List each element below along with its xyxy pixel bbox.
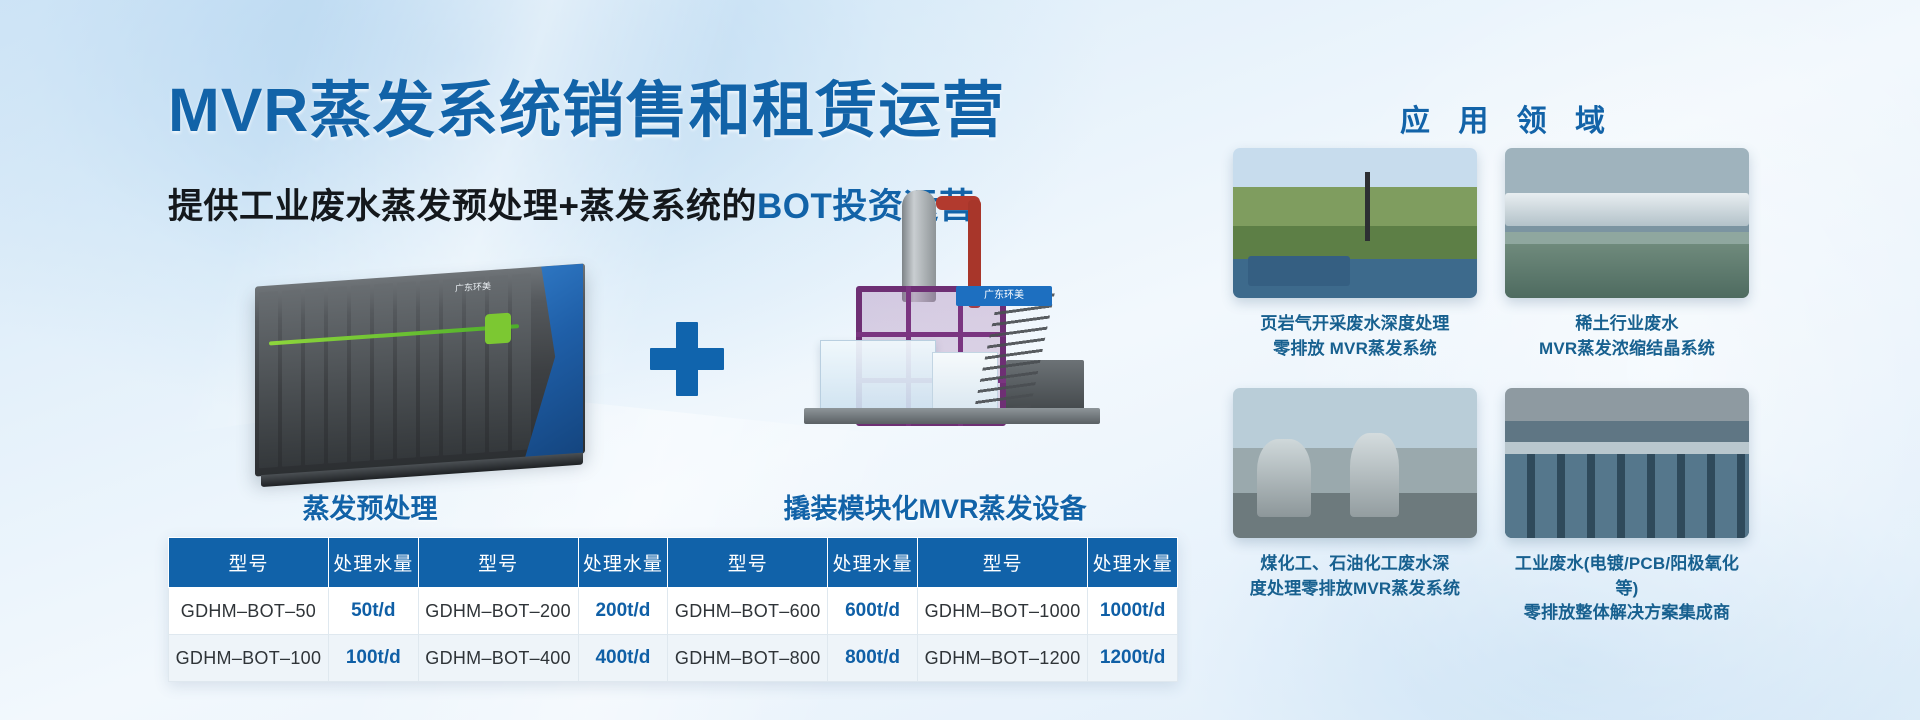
cell-model: GDHM–BOT–100 [169, 635, 329, 682]
cell-capacity: 600t/d [828, 588, 918, 635]
col-header-model-1: 型号 [169, 538, 329, 588]
application-card-rare-earth: 稀土行业废水 MVR蒸发浓缩结晶系统 [1505, 148, 1749, 361]
application-thumbnail-image [1505, 388, 1749, 538]
application-thumbnail-image [1233, 388, 1477, 538]
cell-model: GDHM–BOT–800 [668, 635, 828, 682]
skid-mounted-mvr-evaporator-image: 广东环美 [760, 190, 1120, 465]
application-card-industrial-wastewater: 工业废水(电镀/PCB/阳极氧化等) 零排放整体解决方案集成商 [1505, 388, 1749, 626]
cell-capacity: 100t/d [328, 635, 418, 682]
application-caption-line2: 零排放 MVR蒸发系统 [1233, 337, 1477, 362]
model-capacity-table: 型号 处理水量 型号 处理水量 型号 处理水量 型号 处理水量 GDHM–BOT… [168, 537, 1178, 682]
applications-panel: 应 用 领 域 页岩气开采废水深度处理 零排放 MVR蒸发系统 稀土行业废水 M… [1205, 0, 1920, 720]
promo-banner: MVR蒸发系统销售和租赁运营 提供工业废水蒸发预处理+蒸发系统的BOT投资运营 … [0, 0, 1920, 720]
subheadline-lead: 提供工业废水蒸发预处理+蒸发系统的 [168, 187, 757, 226]
col-header-model-4: 型号 [917, 538, 1087, 588]
application-caption-line1: 工业废水(电镀/PCB/阳极氧化等) [1505, 552, 1749, 601]
application-caption: 工业废水(电镀/PCB/阳极氧化等) 零排放整体解决方案集成商 [1505, 552, 1749, 626]
application-card-shale-gas: 页岩气开采废水深度处理 零排放 MVR蒸发系统 [1233, 148, 1477, 361]
cell-capacity: 800t/d [828, 635, 918, 682]
cell-model: GDHM–BOT–1200 [917, 635, 1087, 682]
application-caption-line1: 稀土行业废水 [1505, 312, 1749, 337]
cell-model: GDHM–BOT–600 [668, 588, 828, 635]
cell-model: GDHM–BOT–1000 [917, 588, 1087, 635]
application-caption: 页岩气开采废水深度处理 零排放 MVR蒸发系统 [1233, 312, 1477, 361]
table-header-row: 型号 处理水量 型号 处理水量 型号 处理水量 型号 处理水量 [169, 538, 1178, 588]
clear-tank-front [820, 340, 936, 410]
col-header-model-3: 型号 [668, 538, 828, 588]
application-card-coal-petrochemical: 煤化工、石油化工废水深 度处理零排放MVR蒸发系统 [1233, 388, 1477, 601]
application-caption-line2: 零排放整体解决方案集成商 [1505, 601, 1749, 626]
table-header: 型号 处理水量 型号 处理水量 型号 处理水量 型号 处理水量 [169, 538, 1178, 588]
application-thumbnail-image [1233, 148, 1477, 298]
application-caption-line1: 页岩气开采废水深度处理 [1233, 312, 1477, 337]
col-header-capacity-3: 处理水量 [828, 538, 918, 588]
cell-model: GDHM–BOT–50 [169, 588, 329, 635]
col-header-capacity-2: 处理水量 [578, 538, 668, 588]
col-header-capacity-4: 处理水量 [1088, 538, 1178, 588]
cell-capacity: 1000t/d [1088, 588, 1178, 635]
container-green-badge [485, 313, 511, 345]
cell-capacity: 50t/d [328, 588, 418, 635]
skid-base-frame [804, 408, 1100, 424]
figure-caption-skid-mvr: 撬装模块化MVR蒸发设备 [784, 487, 1087, 526]
application-caption-line1: 煤化工、石油化工废水深 [1233, 552, 1477, 577]
application-caption-line2: 度处理零排放MVR蒸发系统 [1233, 577, 1477, 602]
cell-model: GDHM–BOT–400 [418, 635, 578, 682]
cell-capacity: 400t/d [578, 635, 668, 682]
headline: MVR蒸发系统销售和租赁运营 [168, 78, 1005, 143]
application-caption: 稀土行业废水 MVR蒸发浓缩结晶系统 [1505, 312, 1749, 361]
cell-capacity: 1200t/d [1088, 635, 1178, 682]
applications-title: 应 用 领 域 [1400, 96, 1615, 140]
col-header-model-2: 型号 [418, 538, 578, 588]
application-caption-line2: MVR蒸发浓缩结晶系统 [1505, 337, 1749, 362]
figure-caption-pretreatment: 蒸发预处理 [303, 487, 438, 526]
cell-capacity: 200t/d [578, 588, 668, 635]
application-thumbnail-image [1505, 148, 1749, 298]
evaporation-pretreatment-unit-image: 广东环美 [255, 263, 585, 476]
skid-brand-badge: 广东环美 [956, 286, 1052, 306]
plus-icon [650, 322, 724, 396]
table-row: GDHM–BOT–100 100t/d GDHM–BOT–400 400t/d … [169, 635, 1178, 682]
application-caption: 煤化工、石油化工废水深 度处理零排放MVR蒸发系统 [1233, 552, 1477, 601]
left-content-column: MVR蒸发系统销售和租赁运营 提供工业废水蒸发预处理+蒸发系统的BOT投资运营 … [0, 0, 1190, 720]
col-header-capacity-1: 处理水量 [328, 538, 418, 588]
table-row: GDHM–BOT–50 50t/d GDHM–BOT–200 200t/d GD… [169, 588, 1178, 635]
cell-model: GDHM–BOT–200 [418, 588, 578, 635]
table-body: GDHM–BOT–50 50t/d GDHM–BOT–200 200t/d GD… [169, 588, 1178, 682]
container-brand-logo: 广东环美 [427, 278, 519, 314]
